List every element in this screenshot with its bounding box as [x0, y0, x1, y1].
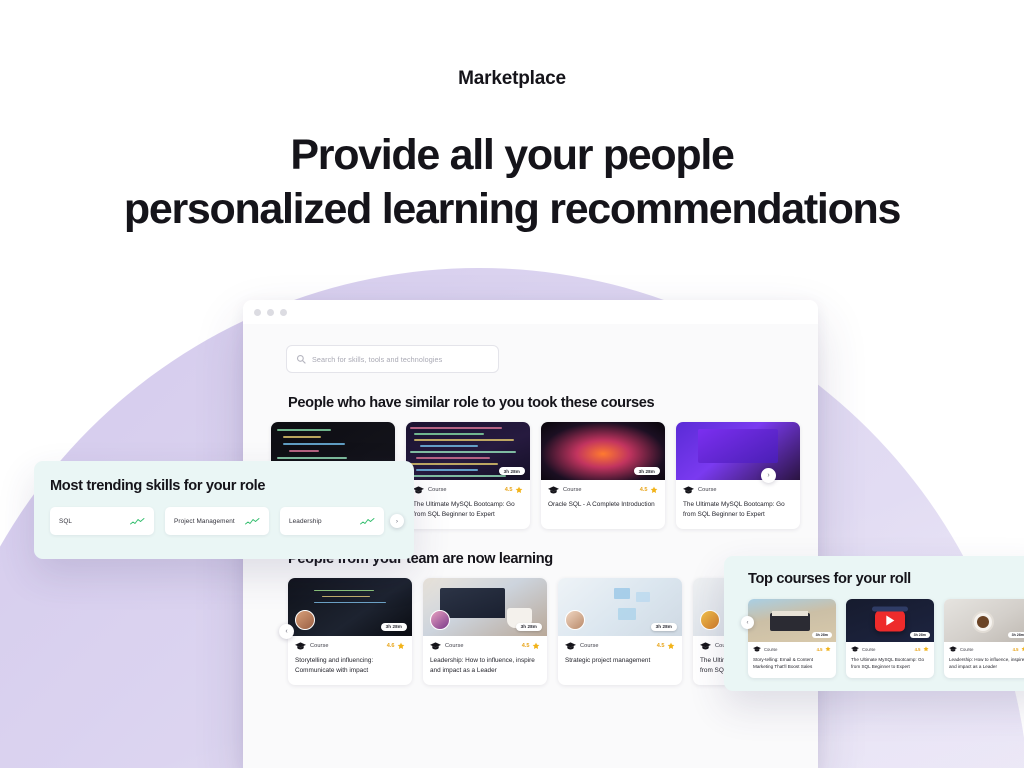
page-root: Marketplace Provide all your people pers… — [0, 0, 1024, 768]
course-duration-badge: 3h 28m — [634, 467, 660, 475]
graduation-cap-icon — [851, 646, 859, 652]
course-type-label: Course — [764, 647, 778, 652]
course-rating: 4.5 — [522, 642, 540, 650]
course-card[interactable]: 3h 28m Course 4.5 Strategic project mana… — [558, 578, 682, 685]
course-type-label: Course — [862, 647, 876, 652]
page-eyebrow: Marketplace — [0, 68, 1024, 90]
trend-up-icon — [360, 517, 375, 526]
top-course-card[interactable]: 3h 28m Course 4.5 Leadership: How to inf… — [944, 599, 1024, 678]
course-card[interactable]: 3h 28m Course 4.5 Oracle SQL - A Complet… — [541, 422, 665, 529]
course-type-label: Course — [698, 487, 717, 493]
avatar — [700, 610, 720, 630]
laptop-shape — [440, 588, 504, 618]
course-type: Course — [430, 642, 464, 650]
graduation-cap-icon — [430, 642, 441, 650]
star-icon — [532, 642, 540, 650]
rating-value: 4.5 — [915, 647, 921, 652]
course-meta: Course 4.5 — [423, 636, 547, 650]
course-duration-badge: 3h 28m — [1008, 632, 1024, 638]
course-meta: Course 4.5 — [944, 642, 1024, 652]
graduation-cap-icon — [700, 642, 711, 650]
course-type-label: Course — [580, 643, 599, 649]
rating-value: 4.5 — [657, 643, 665, 649]
graduation-cap-icon — [295, 642, 306, 650]
course-type: Course — [295, 642, 329, 650]
course-duration-badge: 3h 28m — [651, 623, 677, 631]
course-card[interactable]: Course The Ultimate MySQL Bootcamp: Go f… — [676, 422, 800, 529]
graduation-cap-icon — [949, 646, 957, 652]
course-thumbnail: 3h 28m — [423, 578, 547, 636]
course-type-label: Course — [310, 643, 329, 649]
rating-value: 4.5 — [522, 643, 530, 649]
top-course-card[interactable]: 3h 28m Course 4.5 Story-telling: Email &… — [748, 599, 836, 678]
course-rating: 4.5 — [657, 642, 675, 650]
course-type-label: Course — [428, 487, 447, 493]
graduation-cap-icon — [548, 486, 559, 494]
rating-value: 4.5 — [505, 487, 513, 493]
carousel-prev-button[interactable]: ‹ — [279, 624, 294, 639]
browser-titlebar — [243, 300, 818, 324]
window-close-dot[interactable] — [254, 309, 261, 316]
course-meta: Course — [676, 480, 800, 494]
course-thumbnail: 3h 28m — [846, 599, 934, 642]
course-type: Course — [683, 486, 717, 494]
course-rating: 4.5 — [817, 646, 831, 652]
course-rating: 4.5 — [640, 486, 658, 494]
skill-label: Project Management — [174, 518, 235, 525]
course-duration-badge: 3h 28m — [381, 623, 407, 631]
course-thumbnail — [676, 422, 800, 480]
rating-value: 4.5 — [1013, 647, 1019, 652]
section-title-similar-role: People who have similar role to you took… — [288, 395, 818, 411]
star-icon — [825, 646, 831, 652]
window-minimize-dot[interactable] — [267, 309, 274, 316]
course-meta: Course 4.5 — [406, 480, 530, 494]
trending-skills-title: Most trending skills for your role — [50, 478, 398, 494]
course-meta: Course 4.6 — [288, 636, 412, 650]
star-icon — [923, 646, 929, 652]
course-type-label: Course — [445, 643, 464, 649]
monitor-shape — [698, 429, 777, 463]
top-courses-card: Top courses for your roll 3h 28m Course … — [724, 556, 1024, 691]
course-rating: 4.6 — [387, 642, 405, 650]
course-duration-badge: 3h 28m — [812, 632, 832, 638]
skill-label: SQL — [59, 518, 72, 525]
course-thumbnail: 3h 28m — [558, 578, 682, 636]
course-duration-badge: 3h 28m — [499, 467, 525, 475]
headline-line-2: personalized learning recommendations — [0, 182, 1024, 236]
graduation-cap-icon — [413, 486, 424, 494]
top-course-card[interactable]: 3h 28m Course 4.5 The Ultimate MySQL Boo… — [846, 599, 934, 678]
trend-up-icon — [130, 517, 145, 526]
graduation-cap-icon — [753, 646, 761, 652]
top-courses-list: 3h 28m Course 4.5 Story-telling: Email &… — [748, 599, 1024, 678]
top-courses-title: Top courses for your roll — [748, 571, 1024, 587]
course-type: Course — [548, 486, 582, 494]
course-title: Leadership: How to influence, inspire an… — [944, 652, 1024, 678]
skill-chip-sql[interactable]: SQL — [50, 507, 154, 535]
course-duration-badge: 3h 28m — [910, 632, 930, 638]
course-title: Storytelling and influencing: Communicat… — [288, 650, 412, 685]
course-card[interactable]: 3h 28m Course 4.5 Leadership: How to inf… — [423, 578, 547, 685]
skills-next-button[interactable]: › — [390, 514, 404, 528]
carousel-next-button[interactable]: › — [761, 468, 776, 483]
search-area: Search for skills, tools and technologie… — [243, 324, 818, 373]
star-icon — [515, 486, 523, 494]
course-type: Course — [565, 642, 599, 650]
course-type-label: Course — [563, 487, 582, 493]
course-rating: 4.5 — [915, 646, 929, 652]
skill-label: Leadership — [289, 518, 322, 525]
star-icon — [650, 486, 658, 494]
course-meta: Course 4.5 — [558, 636, 682, 650]
top-courses-prev-button[interactable]: ‹ — [741, 616, 754, 629]
skill-chip-project-management[interactable]: Project Management — [165, 507, 269, 535]
course-title: The Ultimate MySQL Bootcamp: Go from SQL… — [846, 652, 934, 678]
avatar — [295, 610, 315, 630]
skill-chip-leadership[interactable]: Leadership — [280, 507, 384, 535]
search-icon — [296, 354, 306, 364]
course-title: Story-telling: Email & Content Marketing… — [748, 652, 836, 678]
course-thumbnail: 3h 28m — [288, 578, 412, 636]
course-thumbnail: 3h 28m — [748, 599, 836, 642]
headline-line-1: Provide all your people — [0, 128, 1024, 182]
course-title: The Ultimate MySQL Bootcamp: Go from SQL… — [406, 494, 530, 529]
course-card[interactable]: 3h 28m Course 4.6 Storytelling and influ… — [288, 578, 412, 685]
course-rating: 4.5 — [505, 486, 523, 494]
graduation-cap-icon — [565, 642, 576, 650]
course-duration-badge: 3h 28m — [516, 623, 542, 631]
avatar — [565, 610, 585, 630]
course-type: Course — [753, 646, 778, 652]
course-rating: 4.5 — [1013, 646, 1024, 652]
play-button-icon — [875, 610, 905, 631]
course-thumbnail: 3h 28m — [944, 599, 1024, 642]
avatar — [430, 610, 450, 630]
course-type: Course — [949, 646, 974, 652]
rating-value: 4.6 — [387, 643, 395, 649]
graduation-cap-icon — [683, 486, 694, 494]
course-type: Course — [851, 646, 876, 652]
trending-skills-card: Most trending skills for your role SQL P… — [34, 461, 414, 559]
trend-up-icon — [245, 517, 260, 526]
search-input[interactable]: Search for skills, tools and technologie… — [286, 345, 499, 373]
course-thumbnail: 3h 28m — [541, 422, 665, 480]
star-icon — [667, 642, 675, 650]
trending-skills-list: SQL Project Management Leadership › — [50, 507, 398, 535]
page-title: Provide all your people personalized lea… — [0, 128, 1024, 236]
window-maximize-dot[interactable] — [280, 309, 287, 316]
course-meta: Course 4.5 — [846, 642, 934, 652]
course-type-label: Course — [960, 647, 974, 652]
course-title: Oracle SQL - A Complete Introduction — [541, 494, 665, 519]
course-thumbnail: 3h 28m — [406, 422, 530, 480]
course-meta: Course 4.5 — [541, 480, 665, 494]
rating-value: 4.5 — [817, 647, 823, 652]
search-placeholder: Search for skills, tools and technologie… — [312, 355, 442, 364]
rating-value: 4.5 — [640, 487, 648, 493]
star-icon — [397, 642, 405, 650]
course-card[interactable]: 3h 28m Course 4.5 The Ultimate MySQL Boo… — [406, 422, 530, 529]
course-title: Leadership: How to influence, inspire an… — [423, 650, 547, 685]
course-type: Course — [413, 486, 447, 494]
course-title: The Ultimate MySQL Bootcamp: Go from SQL… — [676, 494, 800, 529]
course-meta: Course 4.5 — [748, 642, 836, 652]
course-title: Strategic project management — [558, 650, 682, 675]
